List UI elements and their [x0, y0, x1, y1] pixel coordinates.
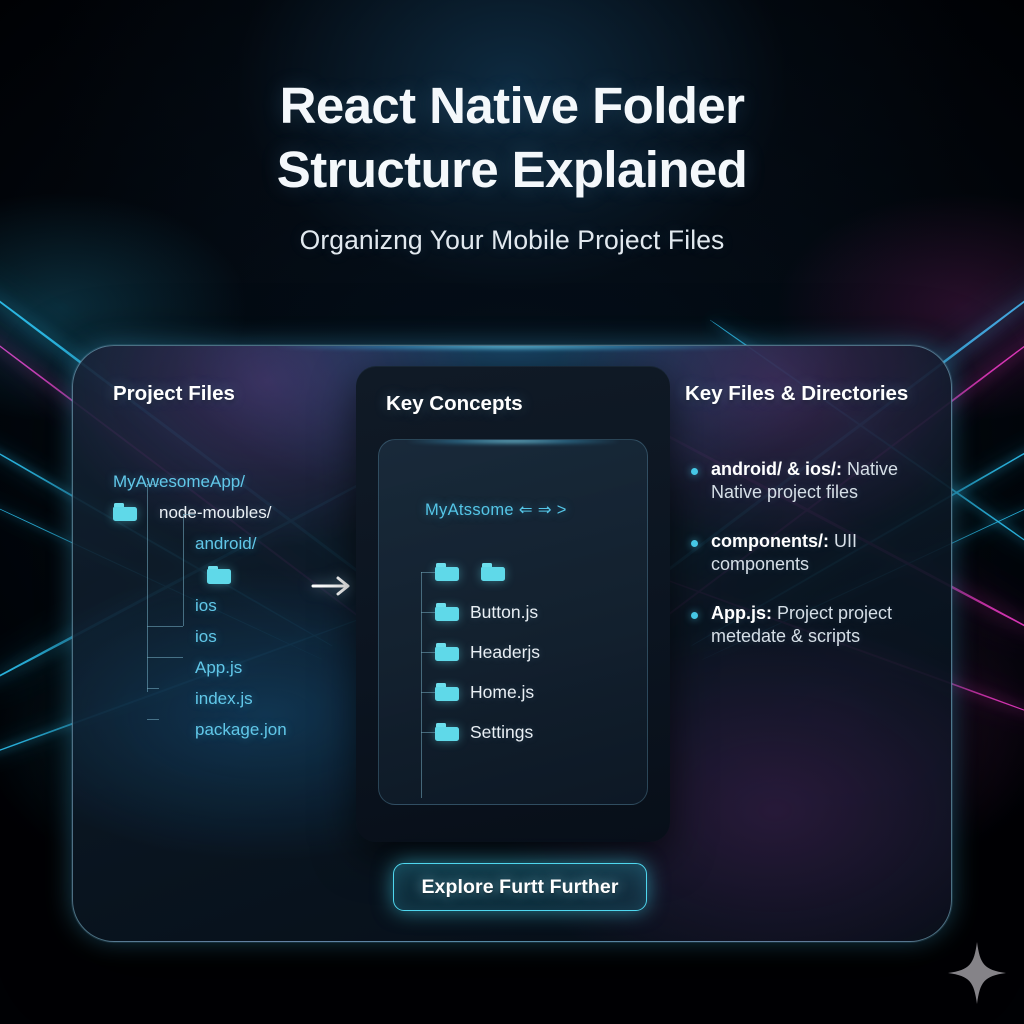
tree-connector-line — [147, 484, 159, 485]
title-line-1: React Native Folder — [0, 74, 1024, 138]
tree-connector-line — [421, 572, 435, 573]
tree-connector-line — [421, 732, 435, 733]
tree-connector-line — [183, 514, 195, 515]
folder-icon — [207, 566, 231, 584]
tree-connector-line — [147, 719, 159, 720]
tree-item-label: android/ — [195, 535, 256, 552]
tree-item[interactable]: node-moubles/ — [113, 497, 363, 528]
list-item: android/ & ios/: Native Native project f… — [685, 458, 952, 504]
tree-connector-line — [147, 688, 159, 689]
folder-icon — [113, 503, 137, 521]
bullet-dot-icon — [691, 540, 698, 547]
component-tree-item[interactable]: Home.js — [409, 672, 645, 712]
key-files-heading: Key Files & Directories — [685, 382, 952, 406]
list-item: App.js: Project project metedate & scrip… — [685, 602, 952, 648]
tree-item-label: MyAwesomeApp/ — [113, 473, 245, 490]
bullet-dot-icon — [691, 612, 698, 619]
poster-canvas: React Native Folder Structure Explained … — [0, 0, 1024, 1024]
tree-item-label: ios — [195, 597, 217, 614]
tree-item[interactable]: MyAwesomeApp/ — [113, 466, 363, 497]
tree-connector-line — [421, 692, 435, 693]
tree-item-label: ios — [195, 628, 217, 645]
file-tree: MyAwesomeApp/node-moubles/android/iosios… — [113, 466, 363, 745]
component-tree: Button.jsHeaderjsHome.jsSettings — [409, 552, 645, 752]
list-item-label: android/ & ios/: Native Native project f… — [711, 458, 952, 504]
key-files-column: Key Files & Directories android/ & ios/:… — [685, 382, 952, 674]
key-concepts-panel: Key Concepts MyAtssome ⇐ ⇒ > Button.jsHe… — [356, 366, 670, 842]
tree-item[interactable]: android/ — [113, 528, 363, 559]
inner-tree-root-label: MyAtssome ⇐ ⇒ > — [425, 500, 567, 520]
component-tree-label: Home.js — [470, 682, 534, 703]
folder-icon — [481, 563, 505, 581]
component-tree-item[interactable]: Button.js — [409, 592, 645, 632]
folder-icon — [435, 683, 459, 701]
inner-panel-top-glow — [408, 439, 618, 444]
component-tree-label: Headerjs — [470, 642, 540, 663]
folder-icon — [435, 603, 459, 621]
explore-further-label: Explore Furtt Further — [421, 876, 618, 899]
list-item-label: components/: UII components — [711, 530, 952, 576]
component-tree-item[interactable] — [409, 552, 645, 592]
sparkle-icon — [948, 942, 1006, 1004]
title-line-2: Structure Explained — [0, 138, 1024, 202]
tree-item-label: index.js — [195, 690, 253, 707]
tree-connector-line — [147, 657, 183, 658]
key-concepts-inner-panel: MyAtssome ⇐ ⇒ > Button.jsHeaderjsHome.js… — [378, 439, 648, 805]
component-tree-label: Button.js — [470, 602, 538, 623]
tree-item-label: App.js — [195, 659, 242, 676]
tree-connector-line — [421, 652, 435, 653]
card-top-glow — [277, 345, 747, 350]
folder-icon — [435, 723, 459, 741]
component-tree-label: Settings — [470, 722, 533, 743]
list-item: components/: UII components — [685, 530, 952, 576]
tree-connector-line — [147, 484, 148, 692]
component-tree-item[interactable]: Settings — [409, 712, 645, 752]
page-subtitle: Organizng Your Mobile Project Files — [0, 225, 1024, 256]
tree-item-label: package.jon — [195, 721, 287, 738]
tree-connector-line — [421, 572, 422, 798]
page-title: React Native Folder Structure Explained … — [0, 74, 1024, 256]
explore-further-button[interactable]: Explore Furtt Further — [393, 863, 647, 911]
component-tree-item[interactable]: Headerjs — [409, 632, 645, 672]
list-item-label: App.js: Project project metedate & scrip… — [711, 602, 952, 648]
folder-icon — [435, 643, 459, 661]
tree-connector-line — [183, 514, 184, 626]
project-files-column: Project Files MyAwesomeApp/node-moubles/… — [113, 382, 363, 745]
tree-connector-line — [147, 626, 183, 627]
main-content-card: Project Files MyAwesomeApp/node-moubles/… — [72, 345, 952, 942]
tree-item-label: node-moubles/ — [159, 504, 271, 521]
project-files-heading: Project Files — [113, 382, 363, 406]
folder-icon — [435, 563, 459, 581]
key-files-list: android/ & ios/: Native Native project f… — [685, 458, 952, 648]
bullet-dot-icon — [691, 468, 698, 475]
arrow-right-icon — [311, 574, 355, 598]
tree-connector-line — [421, 612, 435, 613]
key-concepts-heading: Key Concepts — [386, 392, 523, 416]
